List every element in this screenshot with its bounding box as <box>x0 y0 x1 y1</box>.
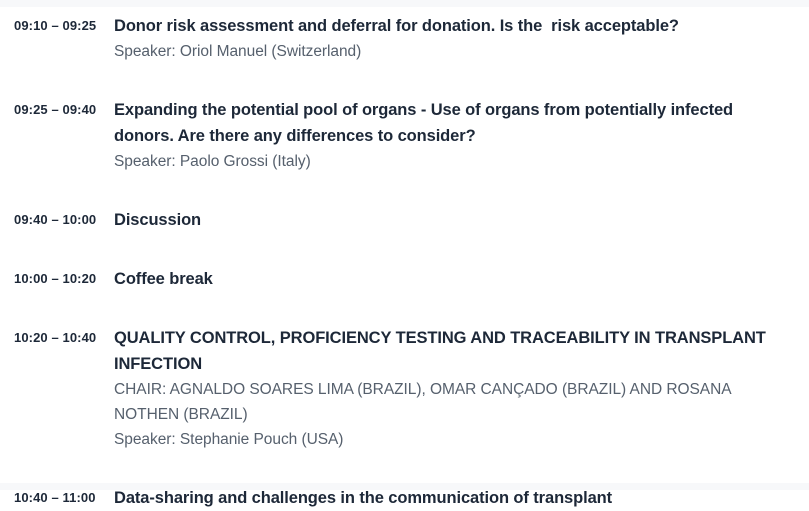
session-title: QUALITY CONTROL, PROFICIENCY TESTING AND… <box>114 325 791 377</box>
session-content: Expanding the potential pool of organs -… <box>114 97 809 174</box>
session-content: Coffee break <box>114 266 809 292</box>
session-title: Donor risk assessment and deferral for d… <box>114 13 791 39</box>
session-content: Discussion <box>114 207 809 233</box>
schedule-row: 10:20 – 10:40 QUALITY CONTROL, PROFICIEN… <box>0 325 809 452</box>
session-time: 09:40 – 10:00 <box>0 207 114 233</box>
session-title: Expanding the potential pool of organs -… <box>114 97 791 149</box>
session-speaker: Speaker: Stephanie Pouch (USA) <box>114 427 791 452</box>
session-chair: CHAIR: AGNALDO SOARES LIMA (BRAZIL), OMA… <box>114 377 791 427</box>
session-title: Coffee break <box>114 266 791 292</box>
schedule-row: 09:40 – 10:00 Discussion <box>0 207 809 233</box>
schedule-list: 09:10 – 09:25 Donor risk assessment and … <box>0 0 809 511</box>
schedule-row: 09:25 – 09:40 Expanding the potential po… <box>0 97 809 174</box>
schedule-row: 10:00 – 10:20 Coffee break <box>0 266 809 292</box>
session-time: 10:20 – 10:40 <box>0 325 114 351</box>
schedule-row: 09:10 – 09:25 Donor risk assessment and … <box>0 13 809 64</box>
session-speaker: Speaker: Paolo Grossi (Italy) <box>114 149 791 174</box>
session-title: Discussion <box>114 207 791 233</box>
session-time: 10:00 – 10:20 <box>0 266 114 292</box>
session-time: 09:10 – 09:25 <box>0 13 114 39</box>
session-content: QUALITY CONTROL, PROFICIENCY TESTING AND… <box>114 325 809 452</box>
bottom-edge-band <box>0 483 809 490</box>
session-content: Donor risk assessment and deferral for d… <box>114 13 809 64</box>
session-time: 09:25 – 09:40 <box>0 97 114 123</box>
session-speaker: Speaker: Oriol Manuel (Switzerland) <box>114 39 791 64</box>
